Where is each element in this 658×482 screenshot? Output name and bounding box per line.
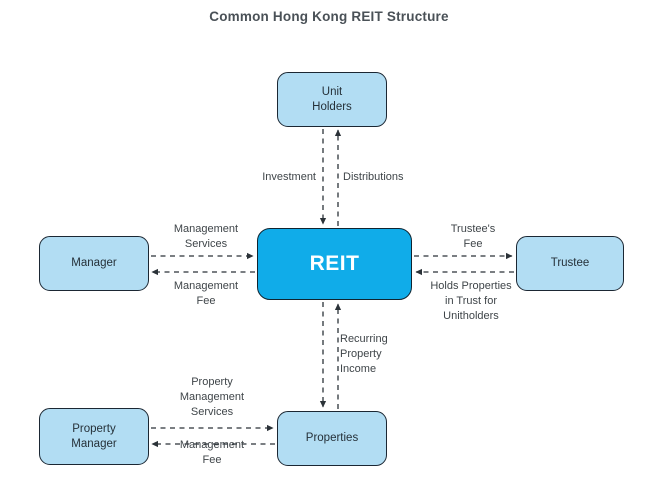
edge-label-management-fee: ManagementFee bbox=[156, 279, 256, 309]
node-reit-label: REIT bbox=[310, 251, 360, 277]
edge-label-holds-properties: Holds Propertiesin Trust forUnitholders bbox=[415, 279, 527, 324]
edge-label-property-management-fee: ManagementFee bbox=[162, 438, 262, 468]
node-manager[interactable]: Manager bbox=[39, 236, 149, 291]
node-properties[interactable]: Properties bbox=[277, 411, 387, 466]
node-unit-holders[interactable]: UnitHolders bbox=[277, 72, 387, 127]
node-reit[interactable]: REIT bbox=[257, 228, 412, 300]
node-manager-label: Manager bbox=[71, 256, 116, 270]
node-property-manager[interactable]: PropertyManager bbox=[39, 408, 149, 465]
edge-label-management-services: ManagementServices bbox=[156, 222, 256, 252]
node-trustee[interactable]: Trustee bbox=[516, 236, 624, 291]
node-properties-label: Properties bbox=[306, 431, 358, 445]
edge-label-investment: Investment bbox=[188, 170, 316, 185]
edge-label-property-management-services: PropertyManagementServices bbox=[162, 375, 262, 420]
edge-label-trustees-fee: Trustee'sFee bbox=[420, 222, 526, 252]
edge-label-distributions: Distributions bbox=[343, 170, 493, 185]
reit-structure-diagram: Common Hong Kong REIT Structure bbox=[0, 0, 658, 482]
node-property-manager-label: PropertyManager bbox=[71, 422, 116, 451]
node-unit-holders-label: UnitHolders bbox=[312, 85, 352, 114]
node-trustee-label: Trustee bbox=[551, 256, 590, 270]
edge-label-recurring-property-income: RecurringPropertyIncome bbox=[340, 332, 440, 377]
